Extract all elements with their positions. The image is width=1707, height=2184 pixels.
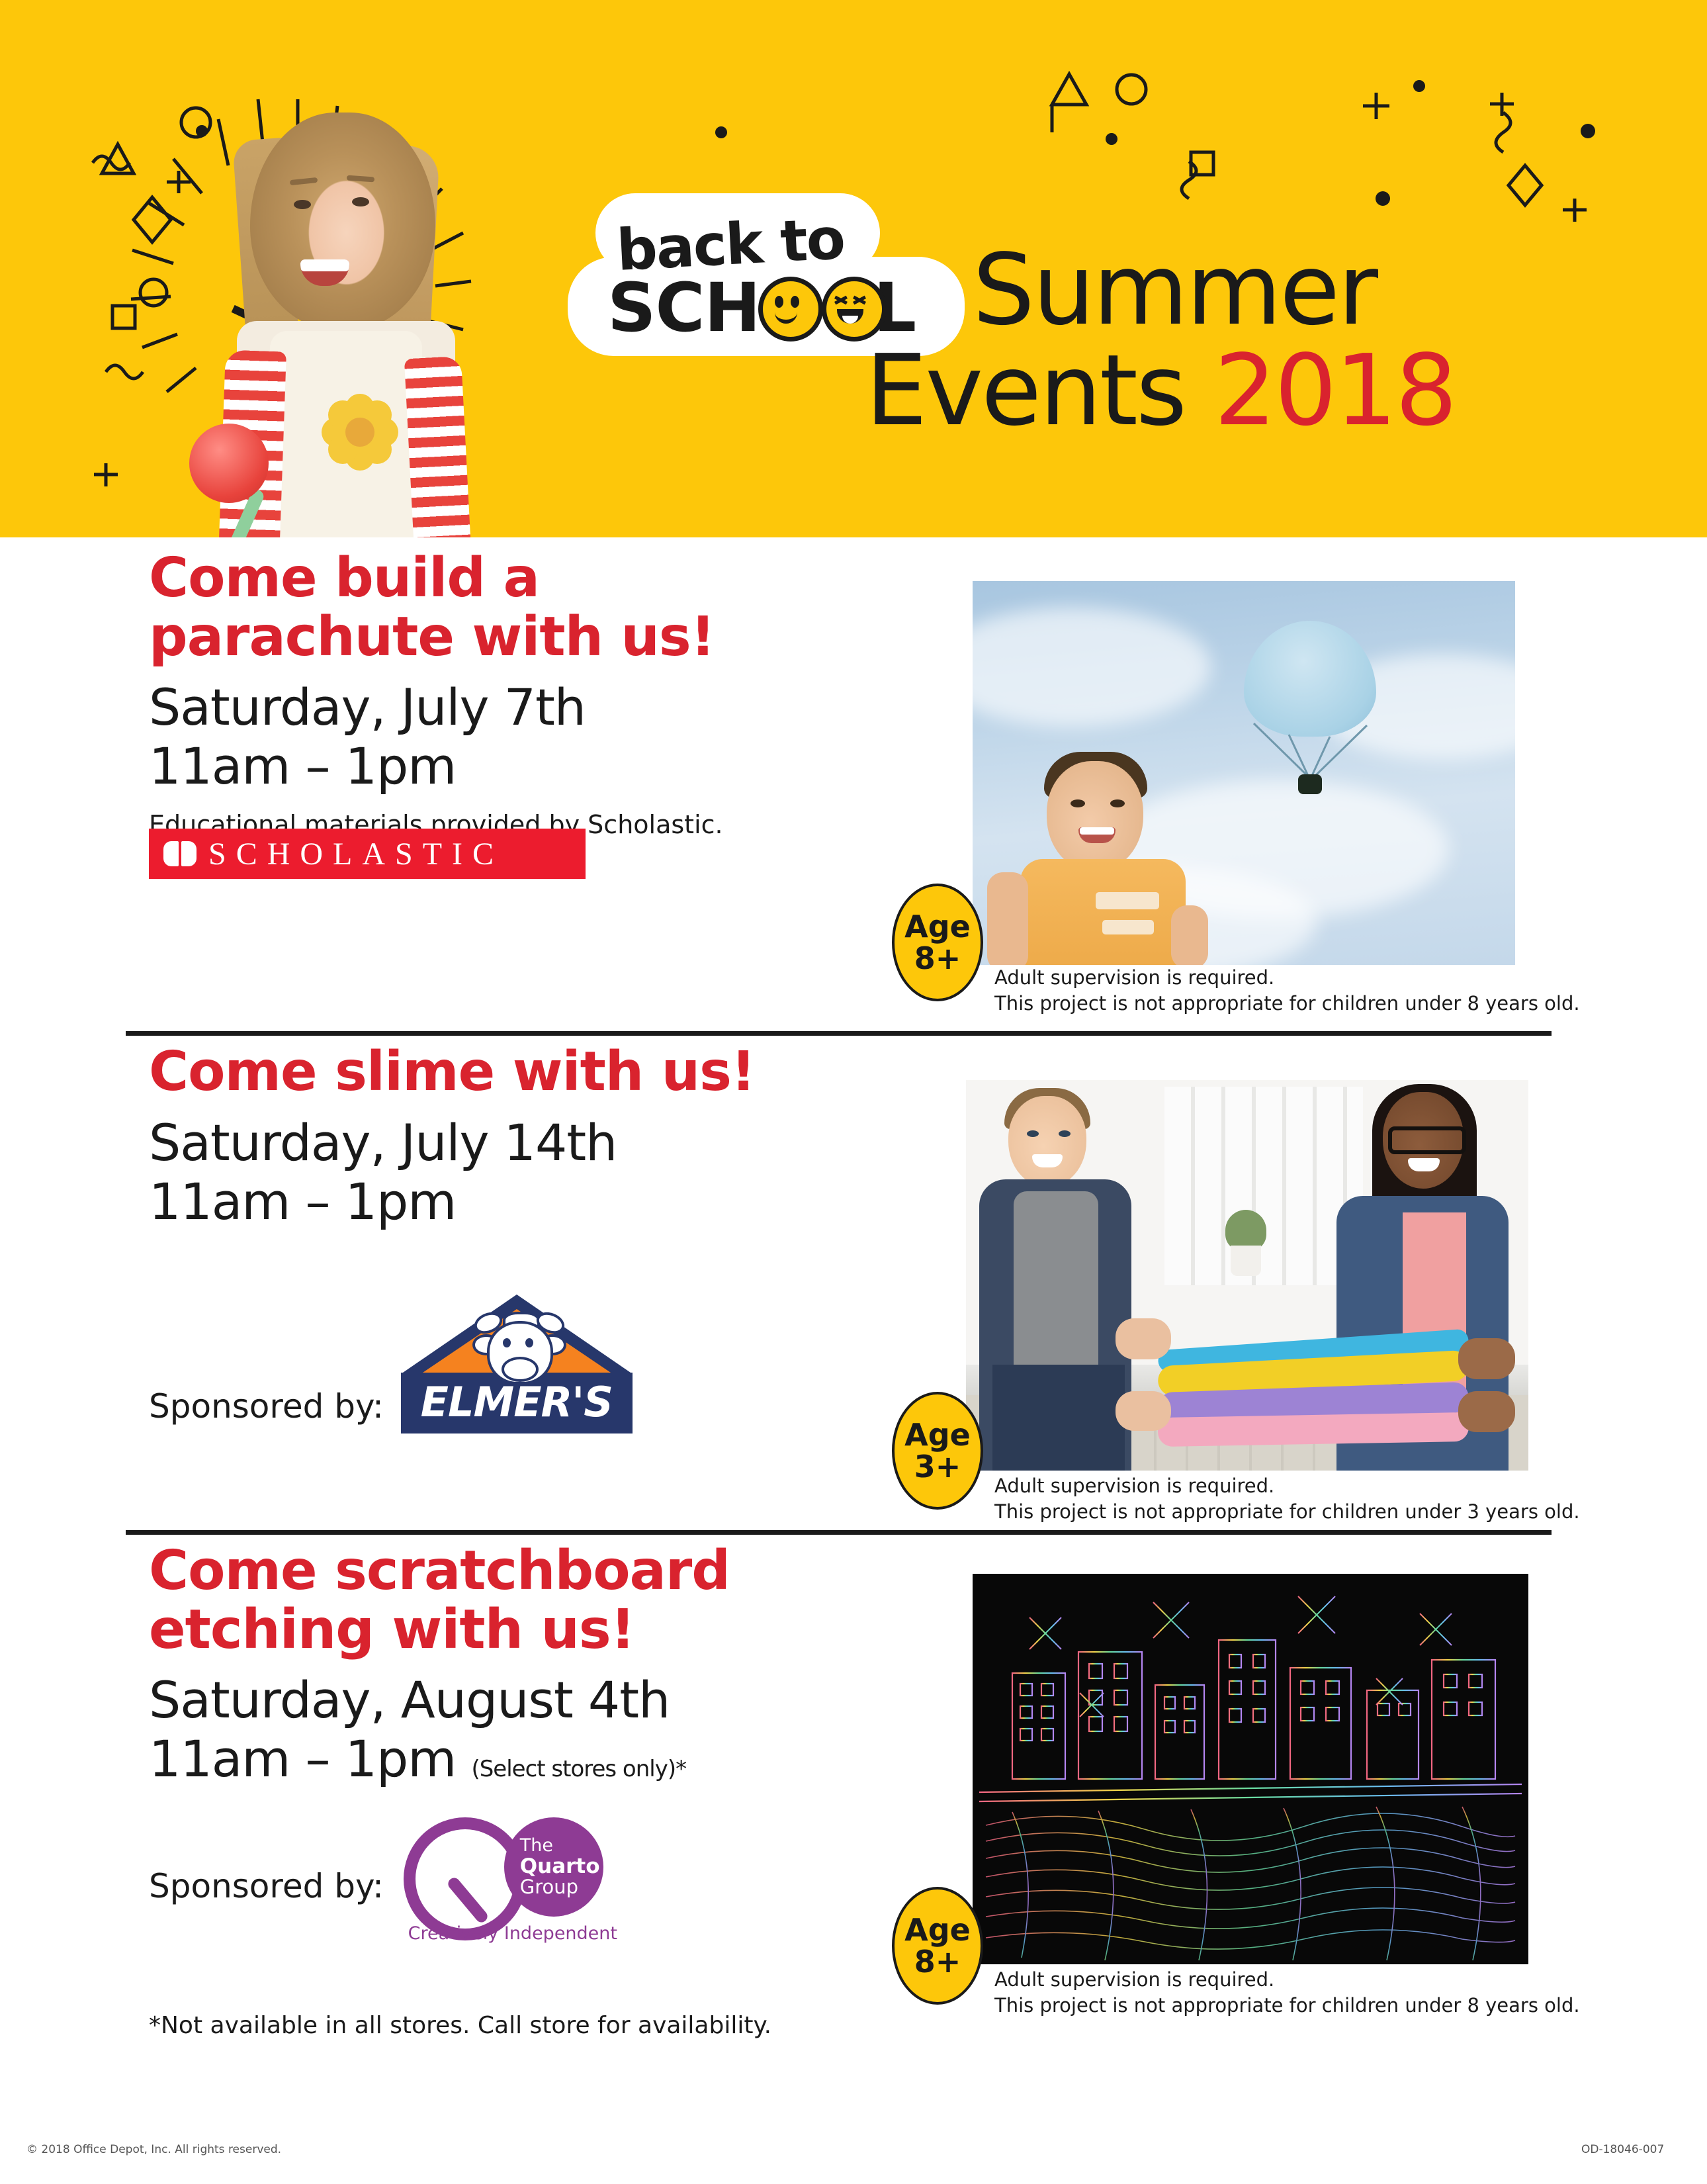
event-1-title-line-2: parachute with us!: [149, 608, 897, 667]
age-label: Age: [904, 911, 971, 942]
event-2-title-line-1: Come slime with us!: [149, 1043, 897, 1102]
quarto-line-2: Quarto: [520, 1856, 603, 1878]
event-3-photo: [973, 1574, 1528, 1964]
event-3-time-row: 11am – 1pm (Select stores only)*: [149, 1730, 897, 1788]
age-value: 3+: [914, 1451, 961, 1482]
banner-title-year: 2018: [1214, 334, 1456, 447]
section-divider-2: [126, 1530, 1552, 1535]
event-2-time: 11am – 1pm: [149, 1173, 897, 1230]
event-1-title-line-1: Come build a: [149, 549, 897, 608]
event-1-age-badge: Age 8+: [892, 884, 983, 1001]
elmers-logo: ELMER'S: [401, 1295, 633, 1433]
event-1-date: Saturday, July 7th: [149, 678, 897, 736]
copyright-notice: © 2018 Office Depot, Inc. All rights res…: [26, 2143, 281, 2156]
elmers-wordmark: ELMER'S: [401, 1378, 633, 1426]
event-2-sponsor-label: Sponsored by:: [149, 1387, 384, 1426]
banner-title-line-1: Summer: [973, 244, 1376, 337]
scholastic-logo: SCHOLASTIC: [149, 829, 586, 879]
quarto-group-logo: The Quarto Group Creatively Independent: [404, 1812, 622, 1934]
event-3-date: Saturday, August 4th: [149, 1671, 897, 1729]
section-divider-1: [126, 1031, 1552, 1036]
eyeglasses-icon: [1388, 1126, 1466, 1154]
event-3-title-line-2: etching with us!: [149, 1601, 897, 1660]
event-3-age-badge: Age 8+: [892, 1887, 983, 2005]
scratchboard-artwork: [973, 1574, 1528, 1964]
event-1-time: 11am – 1pm: [149, 737, 897, 795]
event-2-age-badge: Age 3+: [892, 1392, 983, 1510]
availability-footnote: *Not available in all stores. Call store…: [149, 2012, 771, 2039]
age-label: Age: [904, 1914, 971, 1946]
sku-code: OD-18046-007: [1581, 2143, 1664, 2156]
event-3-title-line-1: Come scratchboard: [149, 1542, 897, 1601]
disclaimer-line-2: This project is not appropriate for chil…: [994, 1499, 1580, 1525]
quarto-tagline: Creatively Independent: [404, 1923, 622, 1944]
banner-title-events: Events: [865, 334, 1185, 447]
quarto-line-1: The: [520, 1837, 603, 1855]
event-3-time: 11am – 1pm: [149, 1729, 456, 1788]
banner-title-line-2: Events 2018: [865, 344, 1456, 437]
boy-face: [1008, 1096, 1086, 1187]
age-value: 8+: [914, 942, 961, 974]
scholastic-wordmark: SCHOLASTIC: [208, 836, 503, 872]
disclaimer-line-1: Adult supervision is required.: [994, 965, 1580, 991]
event-3-text-block: Come scratchboard etching with us! Satur…: [149, 1542, 897, 1788]
back-to-school-sticker: back to SCHOOL: [582, 205, 966, 351]
stretched-slime: [1158, 1340, 1469, 1445]
boy-face: [1047, 761, 1143, 872]
laughing-face-icon: [822, 277, 887, 341]
girl-photo: [171, 93, 515, 537]
event-2-sponsor-row: Sponsored by: ELMER'S: [149, 1295, 633, 1433]
event-3-time-note: (Select stores only)*: [471, 1756, 686, 1782]
event-3-sponsor-label: Sponsored by:: [149, 1867, 384, 1905]
event-2-disclaimer: Adult supervision is required. This proj…: [994, 1473, 1580, 1525]
disclaimer-line-2: This project is not appropriate for chil…: [994, 1993, 1580, 2019]
disclaimer-line-2: This project is not appropriate for chil…: [994, 991, 1580, 1017]
quarto-line-3: Group: [520, 1877, 603, 1897]
event-3-sponsor-row: Sponsored by: The Quarto Group Creativel…: [149, 1812, 622, 1934]
event-2-text-block: Come slime with us! Saturday, July 14th …: [149, 1043, 897, 1230]
event-3-disclaimer: Adult supervision is required. This proj…: [994, 1967, 1580, 2019]
event-1-disclaimer: Adult supervision is required. This proj…: [994, 965, 1580, 1017]
event-1-photo: [973, 581, 1515, 965]
elmers-bull-icon: [472, 1308, 561, 1387]
age-value: 8+: [914, 1946, 961, 1978]
age-label: Age: [904, 1419, 971, 1451]
parachute-payload: [1298, 774, 1322, 794]
smiley-face-icon: [758, 277, 823, 341]
open-book-icon: [163, 841, 197, 866]
event-2-photo: [966, 1080, 1528, 1471]
disclaimer-line-1: Adult supervision is required.: [994, 1473, 1580, 1499]
event-2-date: Saturday, July 14th: [149, 1114, 897, 1171]
header-banner: back to SCHOOL Summer Events 2018: [0, 0, 1707, 537]
disclaimer-line-1: Adult supervision is required.: [994, 1967, 1580, 1993]
event-1-text-block: Come build a parachute with us! Saturday…: [149, 549, 897, 839]
